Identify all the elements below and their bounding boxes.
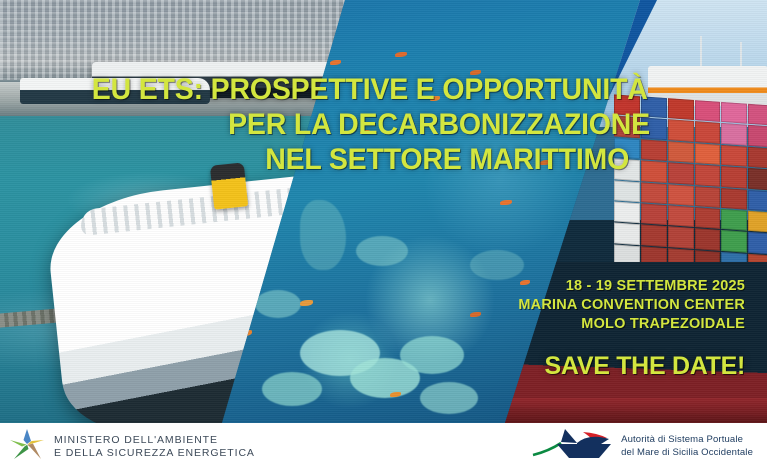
poster-title: EU ETS: PROSPETTIVE E OPPORTUNITÀ PER LA… — [90, 72, 651, 177]
ministry-logo-group: MINISTERO DELL'AMBIENTE E DELLA SICUREZZ… — [8, 426, 255, 467]
ship-mast — [700, 36, 702, 70]
ministry-name: MINISTERO DELL'AMBIENTE E DELLA SICUREZZ… — [54, 434, 255, 460]
save-the-date-callout: SAVE THE DATE! — [545, 352, 745, 380]
hull-waterline — [500, 398, 767, 423]
event-dates: 18 - 19 SETTEMBRE 2025 — [518, 277, 745, 296]
port-authority-name: Autorità di Sistema Portuale del Mare di… — [621, 434, 753, 459]
event-location: MOLO TRAPEZOIDALE — [518, 315, 745, 334]
port-authority-logo-group: Autorità di Sistema Portuale del Mare di… — [531, 427, 753, 466]
port-authority-ship-icon — [531, 427, 613, 466]
event-poster: EU ETS: PROSPETTIVE E OPPORTUNITÀ PER LA… — [0, 0, 767, 470]
event-info-block: 18 - 19 SETTEMBRE 2025 MARINA CONVENTION… — [518, 277, 745, 334]
title-line-1: EU ETS: PROSPETTIVE E OPPORTUNITÀ — [90, 72, 651, 107]
title-line-3: NEL SETTORE MARITTIMO — [90, 142, 651, 177]
footer-logos-bar: MINISTERO DELL'AMBIENTE E DELLA SICUREZZ… — [0, 423, 767, 470]
ministry-pinwheel-star-icon — [8, 426, 46, 467]
title-line-2: PER LA DECARBONIZZAZIONE — [90, 107, 651, 142]
event-venue: MARINA CONVENTION CENTER — [518, 296, 745, 315]
